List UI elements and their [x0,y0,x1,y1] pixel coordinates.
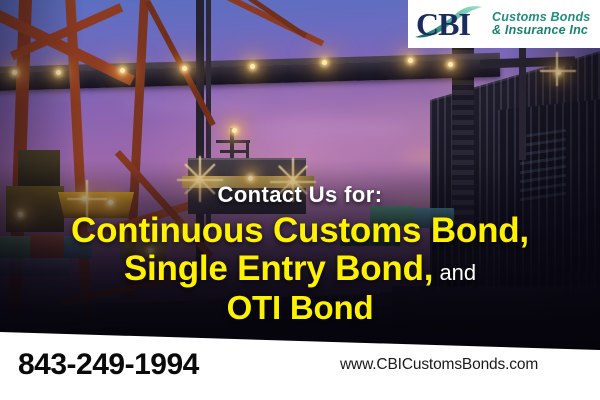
promo-banner: CBI Customs Bonds & Insurance Inc Contac… [0,0,600,400]
svg-text:CBI: CBI [416,6,470,42]
website-url[interactable]: www.CBICustomsBonds.com [340,356,538,374]
headline-line-2-comma: , [424,249,434,288]
phone-number[interactable]: 843-249-1994 [18,348,199,382]
logo-wordmark: Customs Bonds & Insurance Inc [492,11,590,38]
headline-line-2: Single Entry Bond, and [0,250,600,288]
headline-block: Contact Us for: Continuous Customs Bond,… [0,182,600,327]
headline-line-3: OTI Bond [0,290,600,327]
logo-line-2: & Insurance Inc [492,24,590,38]
headline-line-2-product: Single Entry Bond [124,249,424,288]
company-logo[interactable]: CBI Customs Bonds & Insurance Inc [408,0,600,48]
headline-line-1: Continuous Customs Bond, [0,212,600,250]
eyebrow-text: Contact Us for: [0,182,600,208]
cbi-monogram-icon: CBI [414,4,490,44]
headline-line-2-and: and [433,260,476,285]
logo-line-1: Customs Bonds [492,11,590,25]
